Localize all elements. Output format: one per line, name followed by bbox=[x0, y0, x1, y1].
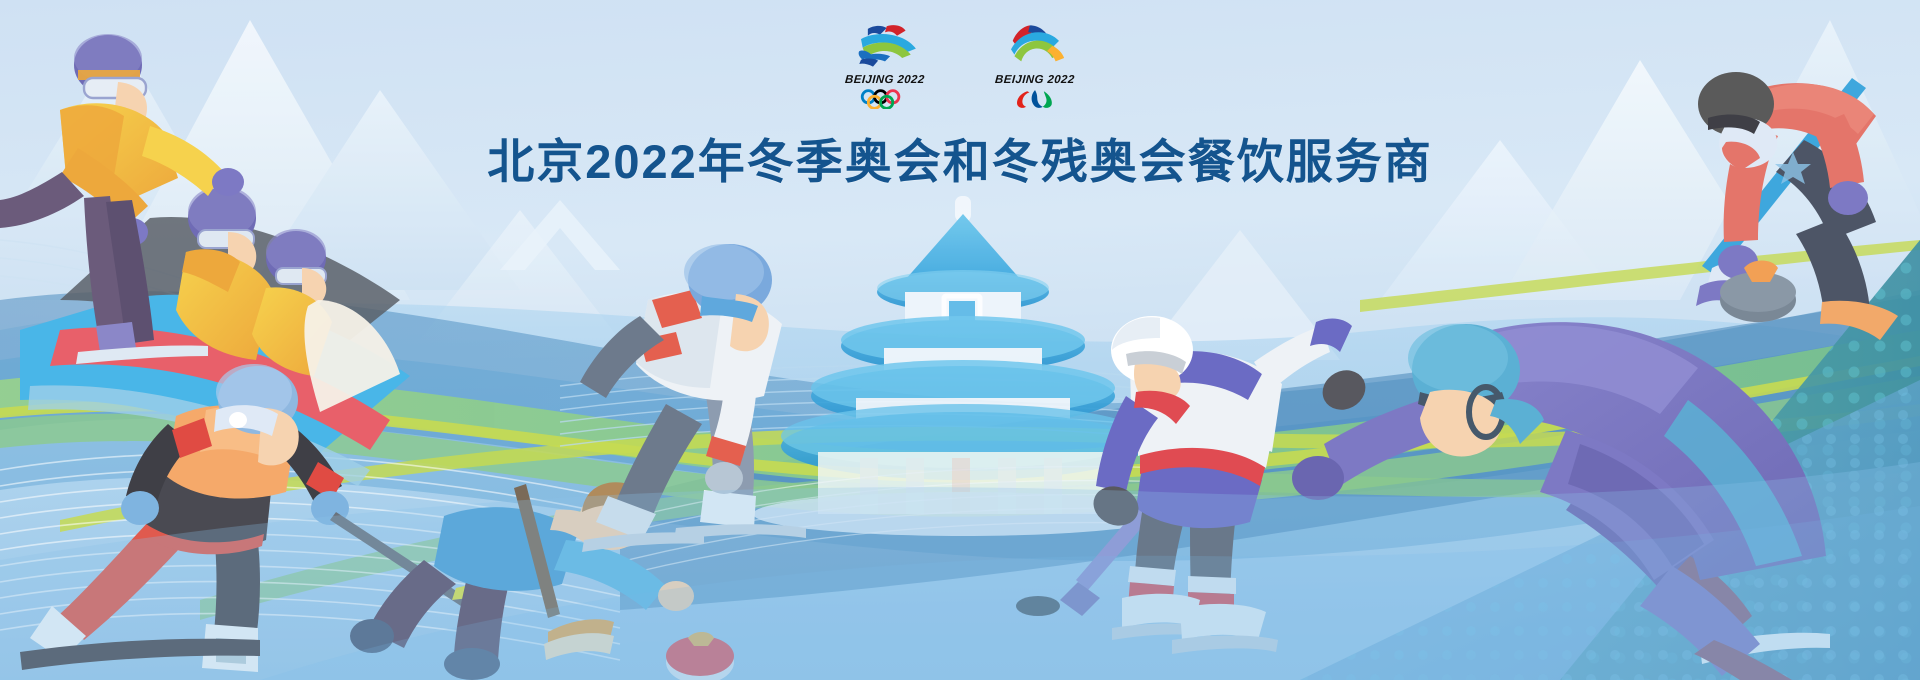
olympic-banner: BEIJING 2022 bbox=[0, 0, 1920, 680]
olympic-emblem-mark bbox=[842, 22, 928, 70]
olympic-wordmark: BEIJING 2022 bbox=[845, 74, 925, 86]
emblem-paralympic[interactable]: BEIJING 2022 bbox=[983, 22, 1087, 109]
page-title: 北京2022年冬季奥会和冬残奥会餐饮服务商 bbox=[487, 123, 1433, 192]
paralympic-agitos-icon bbox=[1007, 89, 1063, 109]
olympic-rings-icon bbox=[850, 89, 920, 109]
emblem-olympic[interactable]: BEIJING 2022 bbox=[833, 22, 937, 109]
paralympic-emblem-mark bbox=[992, 22, 1078, 70]
paralympic-wordmark: BEIJING 2022 bbox=[995, 74, 1075, 86]
emblem-row: BEIJING 2022 bbox=[833, 22, 1087, 109]
